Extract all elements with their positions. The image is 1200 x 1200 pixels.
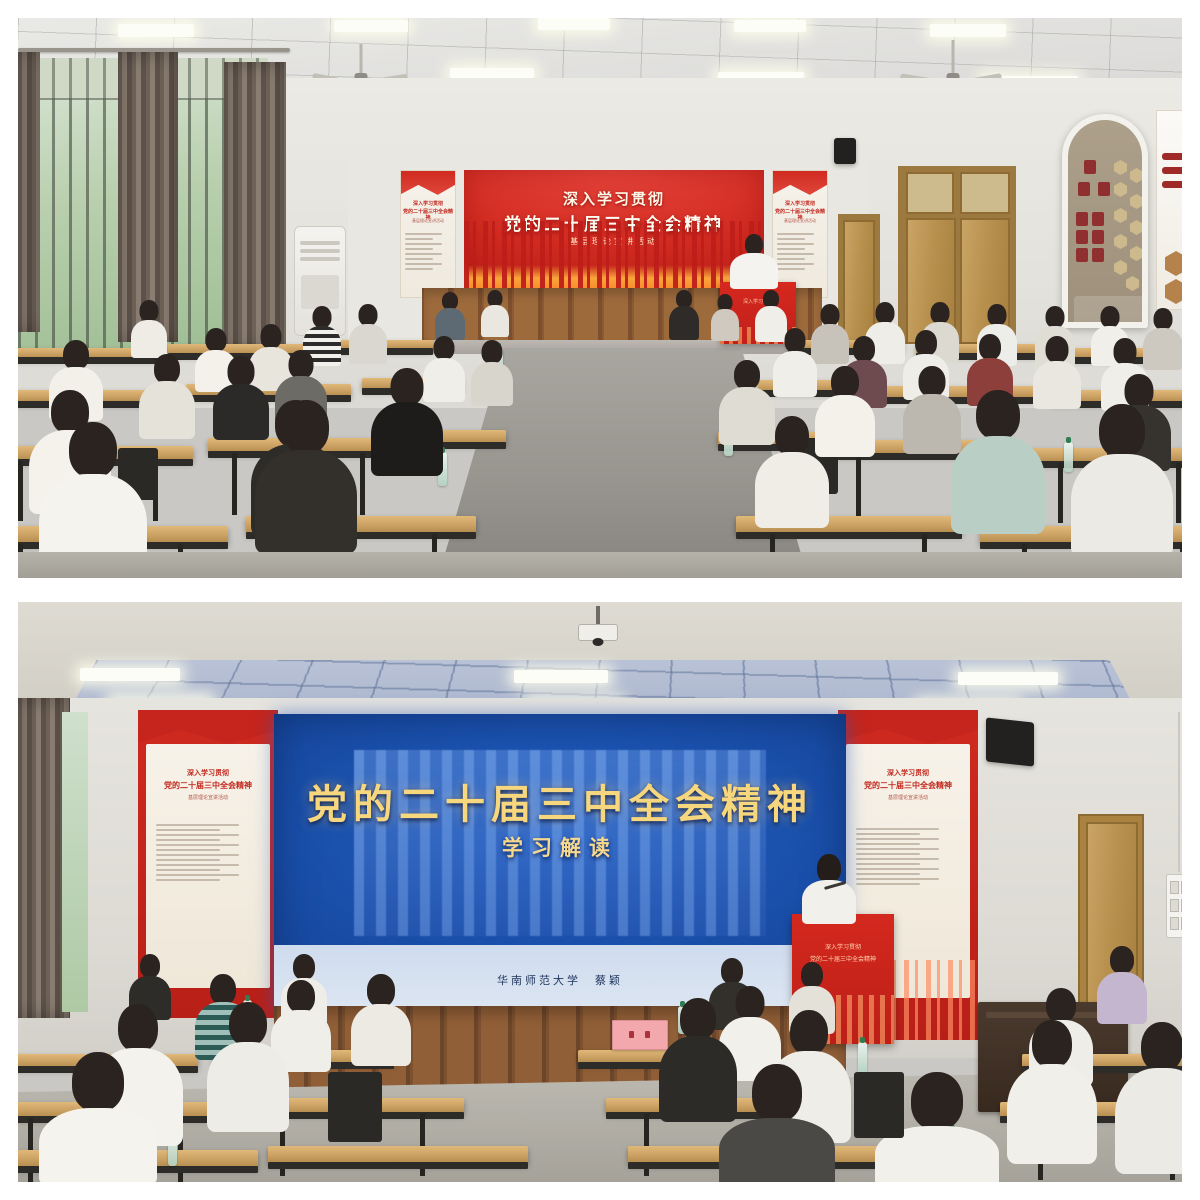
audience-member	[1070, 404, 1174, 554]
panel-light	[538, 18, 610, 30]
side-panel-heading3: 基层理论宣讲活动	[401, 218, 455, 224]
chair	[854, 1072, 904, 1138]
audience-member	[772, 328, 818, 392]
side-banner-heading2: 党的二十届三中全会精神	[846, 780, 970, 791]
side-panel-heading3: 基层理论宣讲活动	[773, 218, 827, 224]
audience-member	[38, 1052, 158, 1182]
audience-member	[480, 290, 510, 336]
screen-title: 党的二十届三中全会精神	[274, 772, 846, 830]
door-transom-glass	[906, 172, 954, 214]
speaker-top	[726, 234, 782, 288]
wall-conduit	[1178, 712, 1180, 872]
panel-light	[80, 668, 180, 681]
audience-member	[668, 290, 700, 338]
curtain	[224, 62, 286, 352]
floor-top-photo	[18, 552, 1182, 578]
side-banner-heading2: 党的二十届三中全会精神	[146, 780, 270, 791]
panel-light	[734, 20, 806, 32]
audience-member	[1114, 1022, 1182, 1172]
audience-member	[1006, 1020, 1098, 1162]
wall-speaker	[834, 138, 856, 164]
audience-member	[206, 1002, 290, 1130]
audience-member	[950, 390, 1046, 530]
screen-subtitle: 学习解读	[274, 832, 846, 862]
audience-member	[348, 304, 388, 360]
audience-member	[434, 292, 466, 338]
curtain	[18, 52, 40, 332]
audience-member	[1096, 946, 1148, 1020]
photo-bottom: 深入学习贯彻 党的二十届三中全会精神 基层理论宣讲活动 深入学习贯彻 党的二十届…	[18, 602, 1182, 1182]
audience-member	[754, 416, 830, 524]
banner-line1: 深入学习贯彻	[464, 188, 764, 209]
chair	[328, 1072, 382, 1142]
audience-member	[130, 300, 168, 354]
projection-screen: 党的二十届三中全会精神 学习解读 华南师范大学 蔡颖	[274, 714, 846, 1014]
projector-bottom	[576, 606, 620, 650]
side-banner-heading3: 基层理论宣讲活动	[146, 794, 270, 801]
photo-collage: 深入学习贯彻 党的二十届三中全会精神 基层理论宣讲活动 深入学习贯彻 党的二十届…	[0, 0, 1200, 1200]
side-panel-heading1: 深入学习贯彻	[401, 201, 455, 207]
light-switch-plate[interactable]	[1166, 874, 1182, 938]
curtain	[118, 52, 178, 342]
event-banner-top: 深入学习贯彻 党的二十届三中全会精神 基层理论宣讲活动	[464, 170, 764, 298]
panel-light	[958, 672, 1058, 685]
side-banner-heading1: 深入学习贯彻	[146, 768, 270, 778]
side-banner-heading3: 基层理论宣讲活动	[846, 794, 970, 801]
side-banner-heading1: 深入学习贯彻	[846, 768, 970, 778]
photo-top: 深入学习贯彻 党的二十届三中全会精神 基层理论宣讲活动 深入学习贯彻 党的二十届…	[18, 18, 1182, 578]
culture-display-board	[1062, 114, 1148, 328]
water-bottle	[858, 1042, 867, 1074]
panel-light	[334, 20, 408, 32]
audience-member	[710, 294, 740, 340]
audience-member	[254, 400, 358, 550]
audience-member	[470, 340, 514, 402]
door-transom-glass	[960, 172, 1010, 214]
audience-member	[370, 368, 444, 472]
side-panel-left-top: 深入学习贯彻 党的二十届三中全会精神 基层理论宣讲活动	[400, 170, 456, 298]
desk	[268, 1146, 528, 1164]
wall-speaker-bottom	[986, 717, 1034, 766]
panel-light	[930, 24, 1006, 37]
window-strip	[62, 712, 88, 1012]
panel-light	[514, 670, 608, 683]
panel-light	[118, 24, 194, 37]
side-panel-heading1: 深入学习贯彻	[773, 201, 827, 207]
wall-poster	[1156, 110, 1182, 310]
podium-text: 深入学习贯彻	[792, 942, 894, 951]
audience-member	[350, 974, 412, 1064]
audience-member	[718, 1064, 836, 1182]
